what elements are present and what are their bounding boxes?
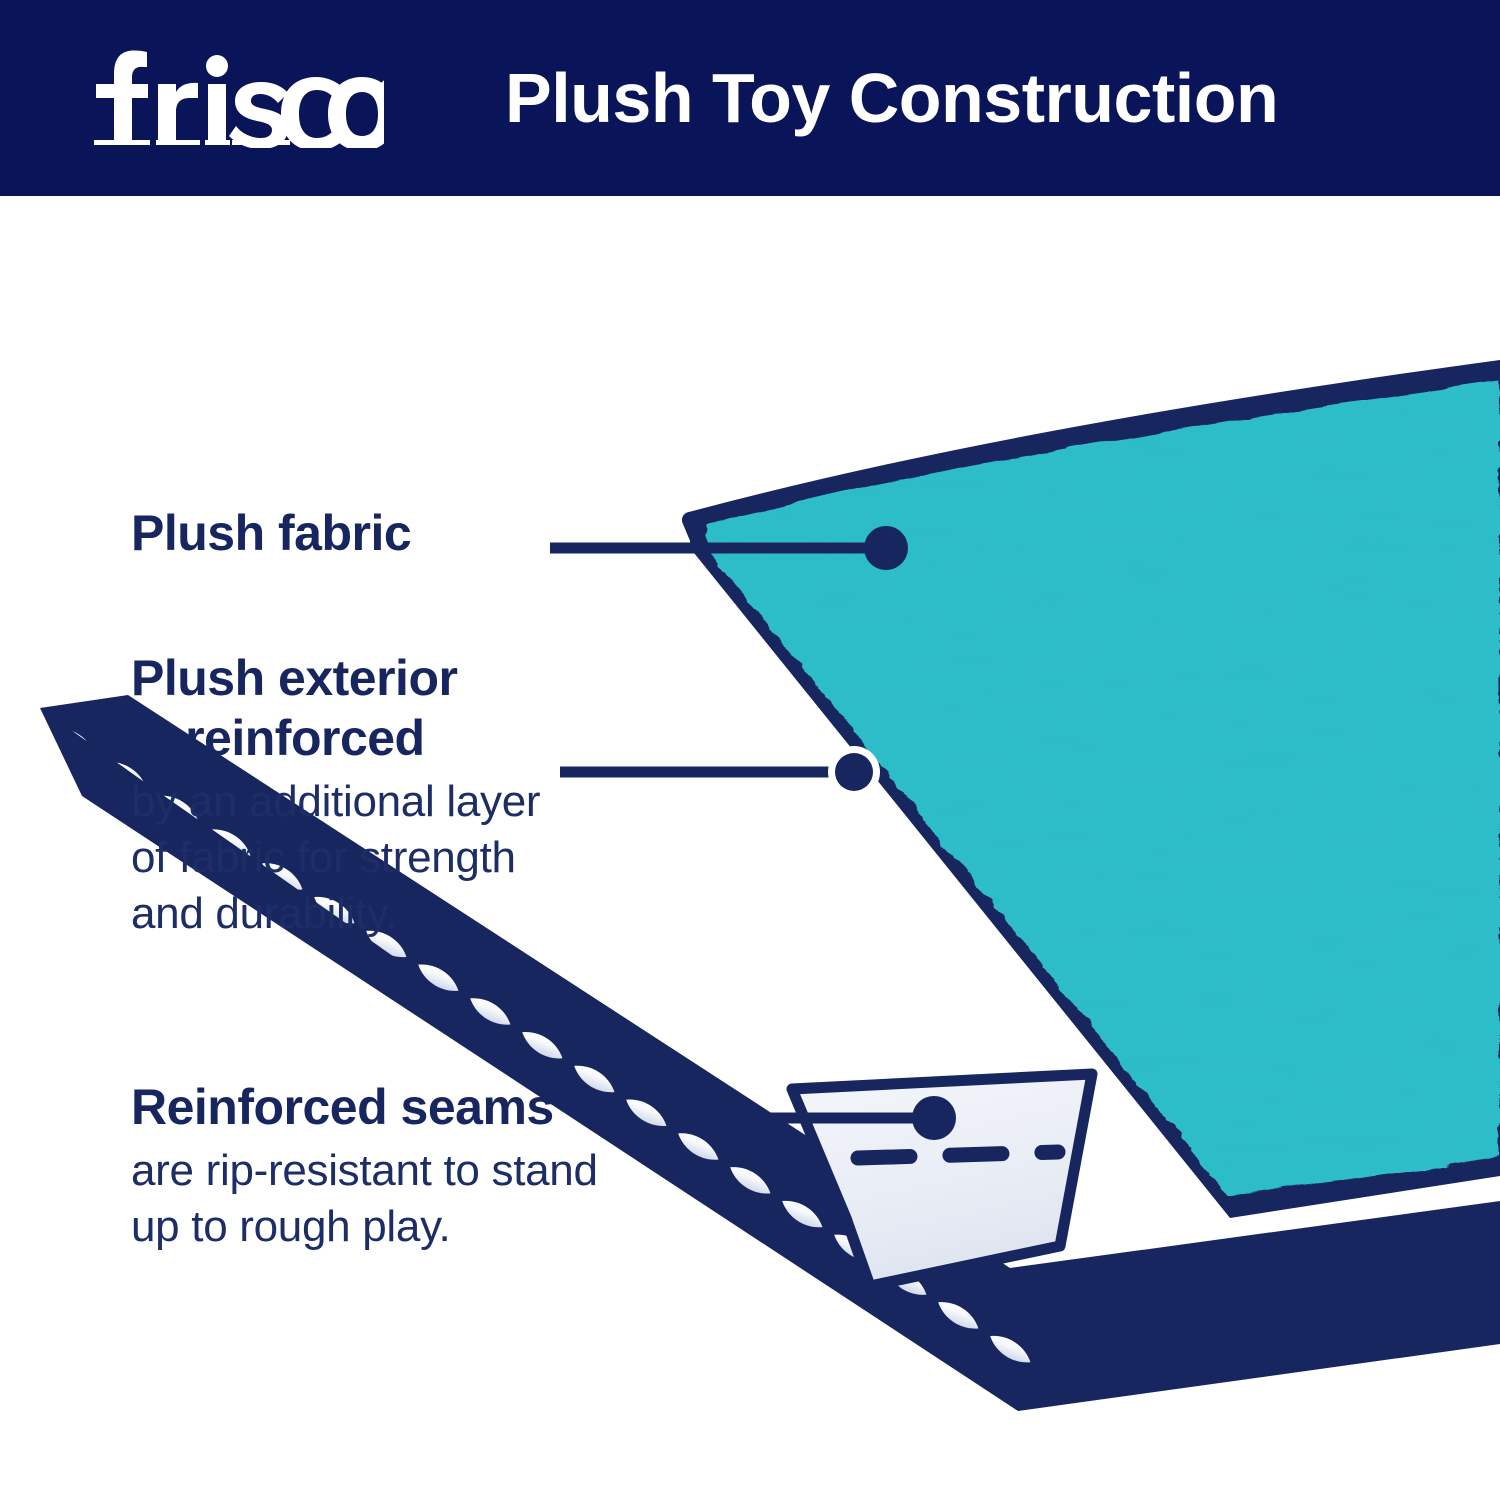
marker-plush-fabric — [864, 526, 908, 570]
callout-plush-exterior-title-line-1: Plush exterior — [131, 648, 540, 708]
marker-reinforced-seams — [912, 1096, 956, 1140]
frisco-logo: R — [84, 44, 384, 148]
marker-plush-exterior — [835, 753, 873, 791]
callout-plush-exterior-body: by an additional layer of fabric for str… — [131, 774, 540, 942]
callout-plush-exterior-body-line-3: and durability. — [131, 886, 540, 942]
header-bar: R Plush Toy Construction — [0, 0, 1500, 196]
callout-plush-exterior-body-line-2: of fabric for strength — [131, 830, 540, 886]
callout-plush-exterior-body-line-1: by an additional layer — [131, 774, 540, 830]
callout-reinforced-seams-title: Reinforced seams — [131, 1077, 598, 1137]
callout-reinforced-seams-body-line-1: are rip-resistant to stand — [131, 1143, 598, 1199]
callout-reinforced-seams-body-line-2: up to rough play. — [131, 1199, 598, 1255]
callout-plush-exterior: Plush exterior is reinforced by an addit… — [131, 648, 540, 942]
callout-plush-fabric: Plush fabric — [131, 503, 411, 563]
leader-plush-exterior — [560, 746, 880, 798]
callout-plush-fabric-title: Plush fabric — [131, 503, 411, 563]
infographic-page: R Plush Toy Construction — [0, 0, 1500, 1500]
page-title: Plush Toy Construction — [505, 50, 1278, 146]
callout-reinforced-seams: Reinforced seams are rip-resistant to st… — [131, 1077, 598, 1255]
callout-reinforced-seams-body: are rip-resistant to stand up to rough p… — [131, 1143, 598, 1255]
callout-plush-exterior-title-line-2: is reinforced — [131, 708, 540, 768]
